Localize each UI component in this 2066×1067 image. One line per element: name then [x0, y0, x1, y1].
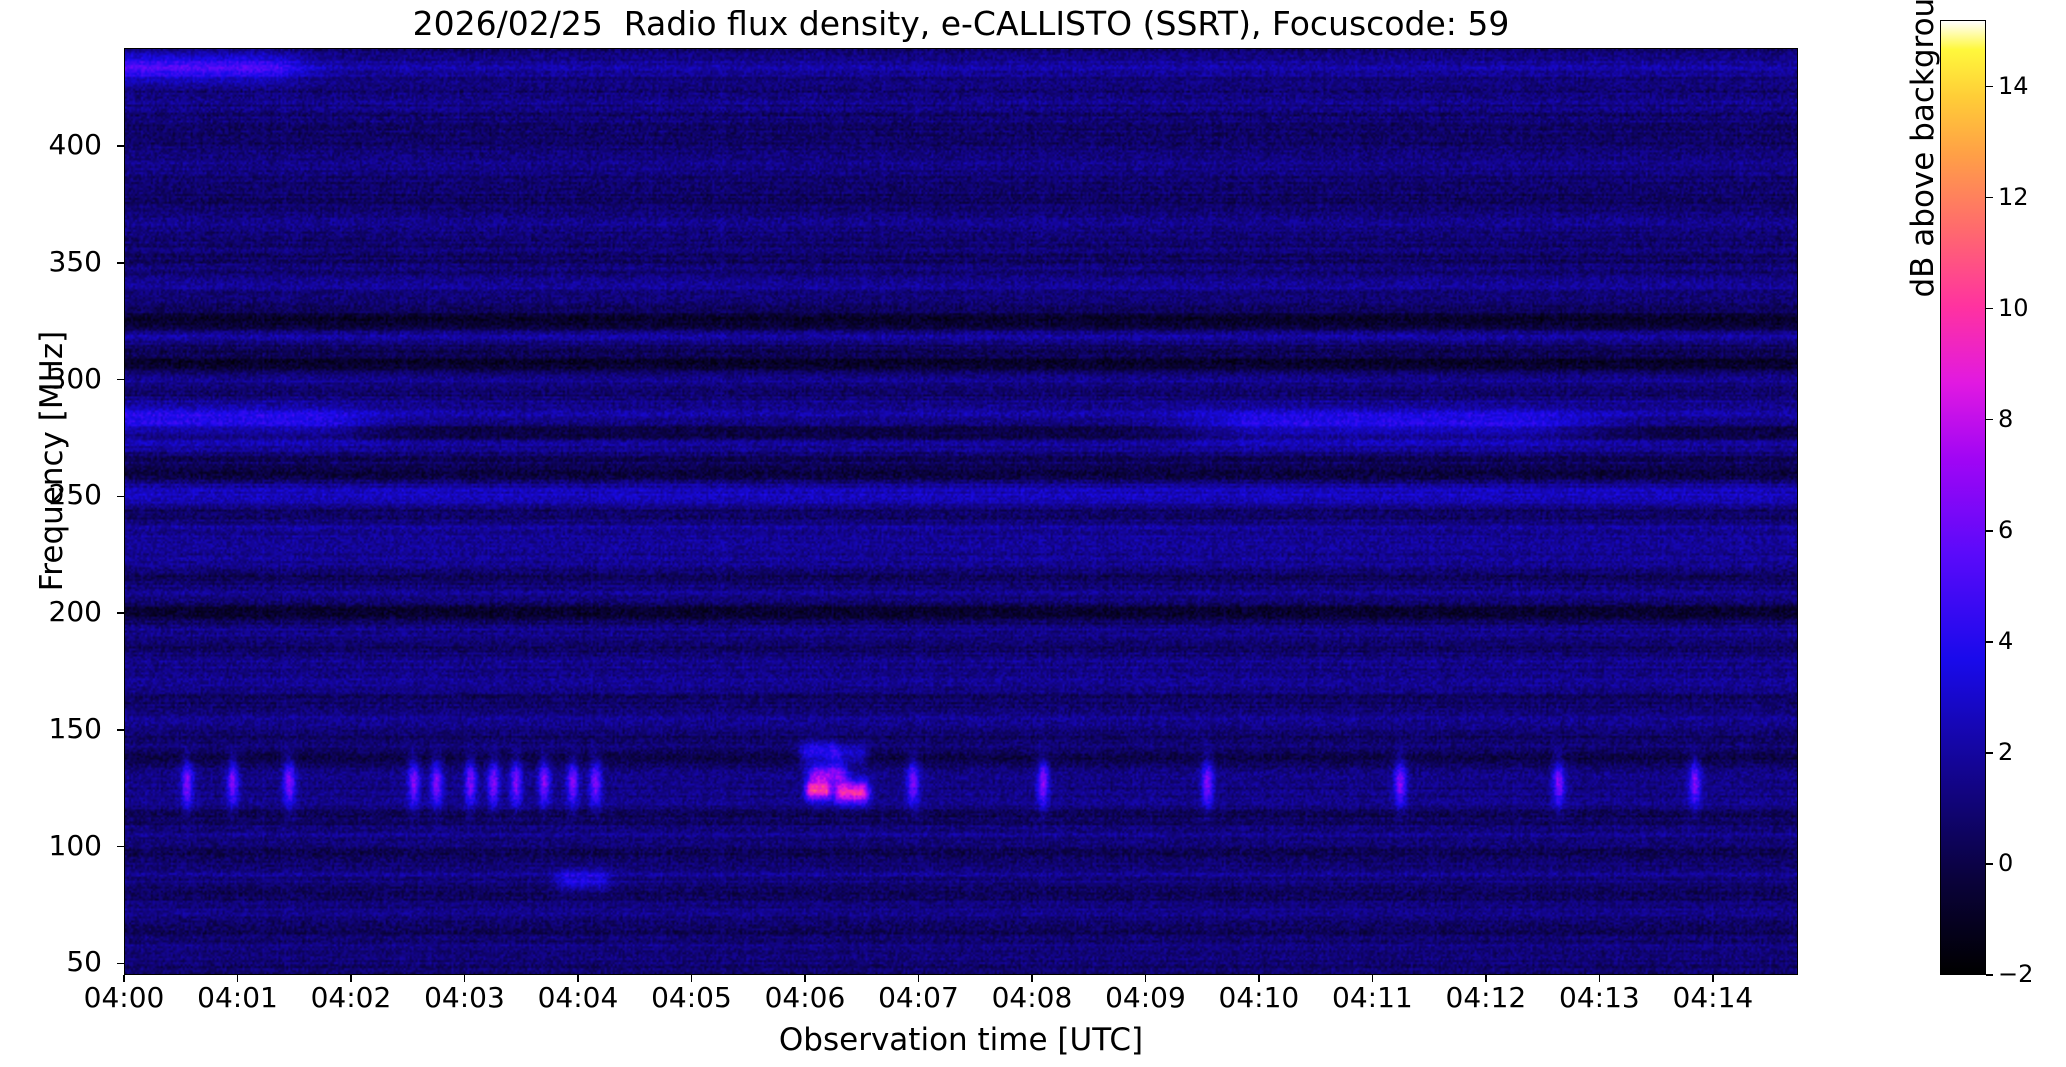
x-tick-label: 04:07	[858, 982, 978, 1014]
y-tick-mark	[117, 379, 124, 380]
colorbar-tick-label: −2	[1998, 962, 2033, 986]
colorbar-tick-label: 8	[1998, 407, 2013, 431]
y-tick-mark	[117, 262, 124, 263]
y-tick-label: 400	[0, 131, 102, 159]
spectrogram-plot-area[interactable]	[124, 48, 1798, 975]
y-tick-mark	[117, 846, 124, 847]
x-tick-label: 04:02	[291, 982, 411, 1014]
x-tick-label: 04:10	[1199, 982, 1319, 1014]
y-tick-label: 100	[0, 832, 102, 860]
x-tick-label: 04:11	[1312, 982, 1432, 1014]
colorbar-tick-mark	[1986, 197, 1993, 198]
colorbar-tick-mark	[1986, 641, 1993, 642]
colorbar-tick-mark	[1986, 530, 1993, 531]
colorbar-gradient	[1940, 20, 1986, 975]
y-tick-mark	[117, 963, 124, 964]
x-tick-label: 04:05	[631, 982, 751, 1014]
colorbar-tick-label: 4	[1998, 629, 2013, 653]
colorbar-tick-label: 6	[1998, 518, 2013, 542]
page-title: 2026/02/25 Radio flux density, e-CALLIST…	[124, 4, 1798, 44]
colorbar-tick-label: 10	[1998, 296, 2029, 320]
colorbar-tick-label: 0	[1998, 851, 2013, 875]
colorbar-tick-mark	[1986, 419, 1993, 420]
y-tick-mark	[117, 145, 124, 146]
x-tick-label: 04:06	[745, 982, 865, 1014]
x-axis-label: Observation time [UTC]	[124, 1022, 1798, 1058]
colorbar-tick-label: 2	[1998, 740, 2013, 764]
colorbar-tick-mark	[1986, 308, 1993, 309]
colorbar-tick-mark	[1986, 752, 1993, 753]
y-tick-mark	[117, 612, 124, 613]
x-tick-label: 04:00	[64, 982, 184, 1014]
x-tick-label: 04:08	[972, 982, 1092, 1014]
colorbar-tick-mark	[1986, 863, 1993, 864]
x-tick-label: 04:01	[177, 982, 297, 1014]
x-tick-label: 04:12	[1426, 982, 1546, 1014]
colorbar-label: dB above background	[1905, 0, 1941, 478]
colorbar-tick-label: 12	[1998, 185, 2029, 209]
x-tick-label: 04:09	[1085, 982, 1205, 1014]
colorbar-tick-mark	[1986, 86, 1993, 87]
x-tick-label: 04:03	[404, 982, 524, 1014]
y-tick-mark	[117, 496, 124, 497]
colorbar-tick-mark	[1986, 974, 1993, 975]
spectrogram-image	[125, 49, 1797, 974]
y-axis-label: Frequency [MHz]	[34, 261, 70, 661]
x-tick-label: 04:14	[1653, 982, 1773, 1014]
spectrogram-canvas	[125, 49, 1797, 974]
spectrogram-figure: 2026/02/25 Radio flux density, e-CALLIST…	[0, 0, 2066, 1067]
x-tick-label: 04:04	[518, 982, 638, 1014]
colorbar-tick-label: 14	[1998, 74, 2029, 98]
y-tick-label: 50	[0, 948, 102, 976]
y-tick-mark	[117, 729, 124, 730]
x-tick-label: 04:13	[1539, 982, 1659, 1014]
y-tick-label: 150	[0, 715, 102, 743]
colorbar[interactable]: −202468101214	[1940, 20, 1986, 975]
